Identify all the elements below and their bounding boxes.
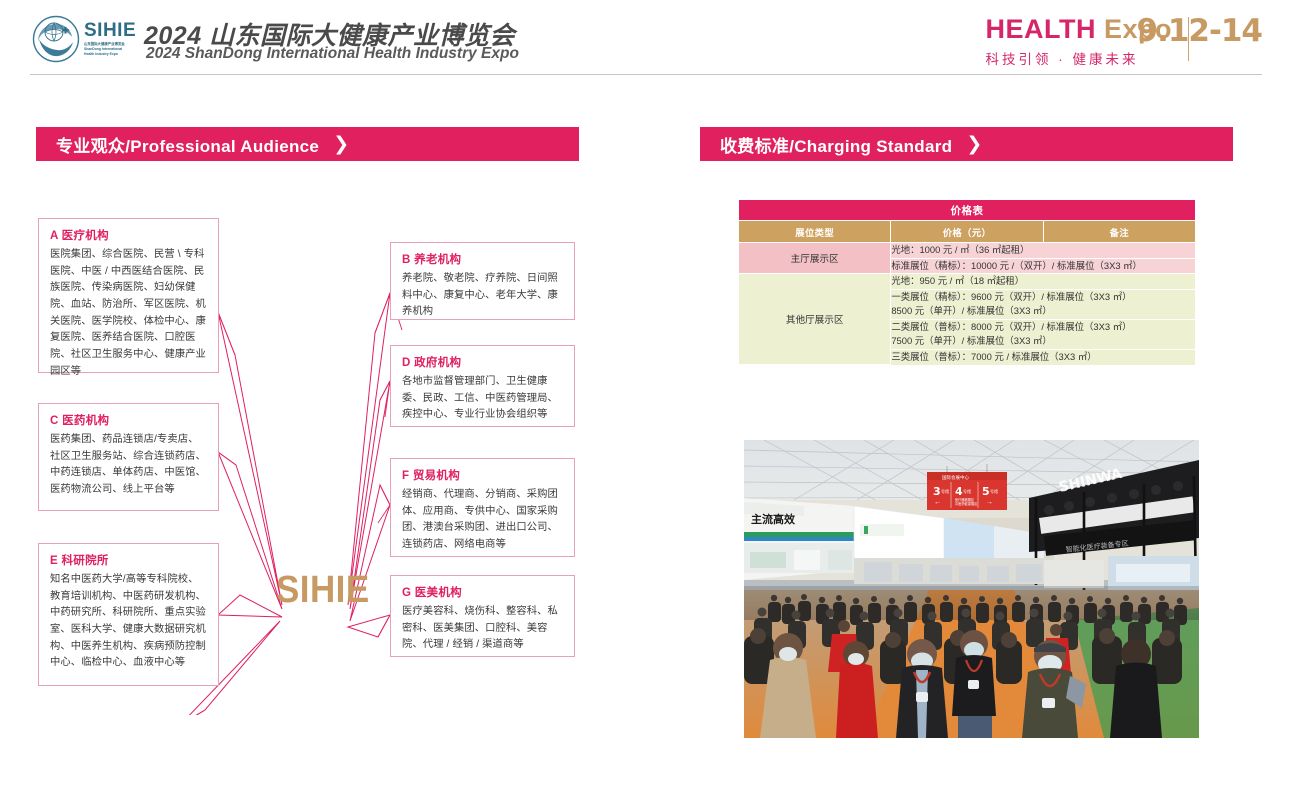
svg-text:主流高效: 主流高效 <box>751 512 796 526</box>
price-row-other-hall-1: 其他厅展示区 光地：950 元 / ㎡（18 ㎡起租） <box>739 274 1196 290</box>
section-right-title-en: Charging Standard <box>794 137 952 156</box>
category-e-body: 知名中医药大学/高等专科院校、教育培训机构、中医药研发机构、中药研究所、科研院所… <box>50 572 207 672</box>
page-header: SIHIE 山东国际大健康产业博览会 ShanDong Internationa… <box>0 0 1292 78</box>
expo-date: 9.12-14 <box>1137 13 1263 49</box>
brand-slogan: 科技引领 · 健康未来 <box>985 48 1172 68</box>
audience-mindmap-diagram: A 医疗机构 医院集团、综合医院、民营 \ 专科医院、中医 / 中西医结合医院、… <box>30 185 600 715</box>
section-right-bar-tail <box>1230 127 1233 161</box>
category-box-g[interactable]: G 医美机构 医疗美容科、烧伤科、整容科、私密科、医美集团、口腔科、美容院、代理… <box>390 575 575 657</box>
section-left-title-cn: 专业观众 <box>56 137 125 156</box>
section-left-bar-tail <box>576 127 579 161</box>
chevron-right-icon: ❯ <box>333 135 349 154</box>
diagram-center-label: SIHIE <box>276 569 370 612</box>
category-box-d[interactable]: D 政府机构 各地市监督管理部门、卫生健康委、民政、工信、中医药管理局、疾控中心… <box>390 345 575 427</box>
section-left-title-en: Professional Audience <box>130 137 319 156</box>
logo-abbr: SIHIE <box>84 21 144 40</box>
svg-text:→: → <box>986 499 993 506</box>
category-box-c[interactable]: C 医药机构 医药集团、药品连锁店/专卖店、社区卫生服务站、综合连锁药店、中药连… <box>38 403 219 511</box>
category-g-title: G 医美机构 <box>402 584 563 600</box>
price-table: 价格表 展位类型 价格（元） 备注 主厅展示区 光地：1000 元 / ㎡（36… <box>738 199 1196 365</box>
sihie-globe-icon <box>32 15 80 63</box>
svg-text:中医药健康展区: 中医药健康展区 <box>955 501 978 506</box>
category-c-title: C 医药机构 <box>50 412 207 428</box>
section-header-professional-audience: 专业观众/Professional Audience ❯ <box>36 127 576 161</box>
price-other-hall-item-2: 一类展位（精标）：9600 元（双开）/ 标准展位（3X3 ㎡） 8500 元（… <box>891 289 1196 319</box>
price-category-main-hall: 主厅展示区 <box>739 243 891 274</box>
section-right-title-cn: 收费标准 <box>720 137 789 156</box>
logo-wordmark: SIHIE 山东国际大健康产业博览会 ShanDong Internationa… <box>84 21 144 57</box>
category-f-title: F 贸易机构 <box>402 467 563 483</box>
svg-text:5: 5 <box>982 485 990 498</box>
svg-text:国际会展中心: 国际会展中心 <box>942 474 969 481</box>
category-a-title: A 医疗机构 <box>50 227 207 243</box>
col-header-remark: 备注 <box>1043 221 1195 243</box>
brand-logo: SIHIE 山东国际大健康产业博览会 ShanDong Internationa… <box>32 14 152 64</box>
logo-sub-en2: Health Industry Expo <box>84 52 144 57</box>
category-e-title: E 科研院所 <box>50 552 207 568</box>
category-box-f[interactable]: F 贸易机构 经销商、代理商、分销商、采购团体、应用商、专供中心、国家采购团、港… <box>390 458 575 557</box>
price-table-title: 价格表 <box>739 200 1196 221</box>
col-header-booth-type: 展位类型 <box>739 221 891 243</box>
category-f-body: 经销商、代理商、分销商、采购团体、应用商、专供中心、国家采购团、港澳台采购团、进… <box>402 487 563 554</box>
brand-health-text: HEALTH <box>985 14 1096 44</box>
section-header-charging-standard: 收费标准/Charging Standard ❯ <box>700 127 1230 161</box>
col-header-price: 价格（元） <box>891 221 1043 243</box>
price-category-other-hall: 其他厅展示区 <box>739 274 891 365</box>
category-c-body: 医药集团、药品连锁店/专卖店、社区卫生服务站、综合连锁药店、中药连锁店、单体药店… <box>50 432 207 499</box>
category-box-a[interactable]: A 医疗机构 医院集团、综合医院、民营 \ 专科医院、中医 / 中西医结合医院、… <box>38 218 219 373</box>
svg-text:4: 4 <box>955 485 963 498</box>
section-left-label: 专业观众/Professional Audience <box>56 132 319 157</box>
category-g-body: 医疗美容科、烧伤科、整容科、私密科、医美集团、口腔科、美容院、代理 / 经销 /… <box>402 604 563 654</box>
price-table-title-row: 价格表 <box>739 200 1196 221</box>
price-other-hall-item-1: 光地：950 元 / ㎡（18 ㎡起租） <box>891 274 1196 290</box>
category-d-title: D 政府机构 <box>402 354 563 370</box>
logo-subtitle: 山东国际大健康产业博览会 ShanDong International Heal… <box>84 42 144 57</box>
category-b-body: 养老院、敬老院、疗养院、日间照料中心、康复中心、老年大学、康养机构 <box>402 271 563 321</box>
price-other-hall-item-4: 三类展位（普标）：7000 元 / 标准展位（3X3 ㎡） <box>891 350 1196 365</box>
category-d-body: 各地市监督管理部门、卫生健康委、民政、工信、中医药管理局、疾控中心、专业行业协会… <box>402 374 563 424</box>
price-table-header-row: 展位类型 价格（元） 备注 <box>739 221 1196 243</box>
price-other-hall-item-3: 二类展位（普标）：8000 元（双开）/ 标准展位（3X3 ㎡） 7500 元（… <box>891 319 1196 349</box>
svg-text:←: ← <box>934 499 941 506</box>
category-b-title: B 养老机构 <box>402 251 563 267</box>
category-box-e[interactable]: E 科研院所 知名中医药大学/高等专科院校、教育培训机构、中医药研发机构、中药研… <box>38 543 219 686</box>
price-main-hall-item-1: 光地：1000 元 / ㎡（36 ㎡起租） <box>891 243 1196 259</box>
category-box-b[interactable]: B 养老机构 养老院、敬老院、疗养院、日间照料中心、康复中心、老年大学、康养机构 <box>390 242 575 320</box>
svg-text:号馆: 号馆 <box>941 488 949 494</box>
svg-text:号馆: 号馆 <box>990 488 998 494</box>
category-a-body: 医院集团、综合医院、民营 \ 专科医院、中医 / 中西医结合医院、民族医院、传染… <box>50 247 207 380</box>
svg-text:号馆: 号馆 <box>963 488 971 494</box>
svg-text:3: 3 <box>933 485 941 498</box>
poster-page: SIHIE 山东国际大健康产业博览会 ShanDong Internationa… <box>0 0 1292 788</box>
price-row-main-hall-1: 主厅展示区 光地：1000 元 / ㎡（36 ㎡起租） <box>739 243 1196 259</box>
section-right-label: 收费标准/Charging Standard <box>720 132 952 157</box>
price-main-hall-item-2: 标准展位（精标）：10000 元 /（双开）/ 标准展位（3X3 ㎡） <box>891 258 1196 274</box>
header-divider-line <box>30 74 1262 75</box>
expo-title-en: 2024 ShanDong International Health Indus… <box>146 45 519 63</box>
chevron-right-icon: ❯ <box>966 135 982 154</box>
exhibition-hall-crowd-photo: 主流高效 SHINWA <box>744 440 1199 738</box>
